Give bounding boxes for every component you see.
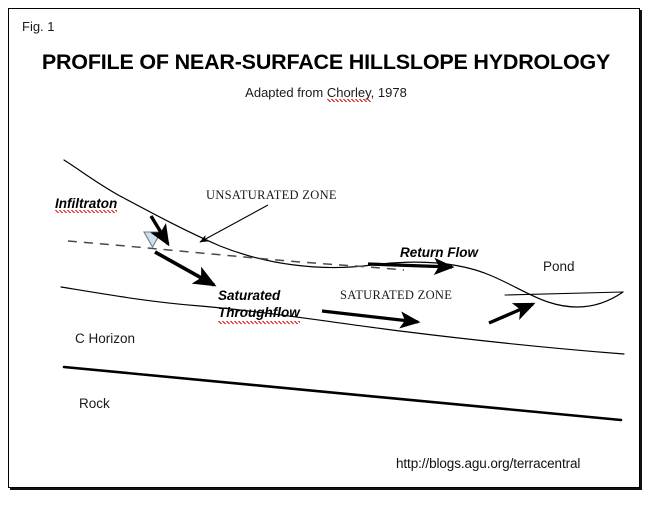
figure-border-frame xyxy=(8,8,640,488)
label-saturated-zone: SATURATED ZONE xyxy=(340,289,452,302)
label-rock: Rock xyxy=(79,397,110,411)
source-url-text: http://blogs.agu.org/terracentral xyxy=(396,457,580,471)
label-saturated-throughflow-line2: Throughflow xyxy=(218,305,300,324)
subtitle-source-text: Chorley xyxy=(327,85,371,102)
page-title: PROFILE OF NEAR-SURFACE HILLSLOPE HYDROL… xyxy=(0,52,652,74)
label-return-flow: Return Flow xyxy=(400,246,478,260)
label-infiltration: Infiltraton xyxy=(55,197,117,211)
label-saturated-throughflow: Saturated Throughflow xyxy=(218,288,300,324)
label-saturated-throughflow-line1: Saturated xyxy=(218,288,300,305)
figure-number-label: Fig. 1 xyxy=(22,20,55,33)
label-c-horizon: C Horizon xyxy=(75,332,135,346)
subtitle-suffix-text: , 1978 xyxy=(371,85,407,100)
figure-subtitle: Adapted from Chorley, 1978 xyxy=(0,86,652,99)
figure-canvas: Fig. 1 PROFILE OF NEAR-SURFACE HILLSLOPE… xyxy=(0,0,652,506)
subtitle-prefix-text: Adapted from xyxy=(245,85,327,100)
label-infiltration-text: Infiltraton xyxy=(55,196,117,213)
label-unsaturated-zone: UNSATURATED ZONE xyxy=(206,189,337,202)
label-pond: Pond xyxy=(543,260,575,274)
